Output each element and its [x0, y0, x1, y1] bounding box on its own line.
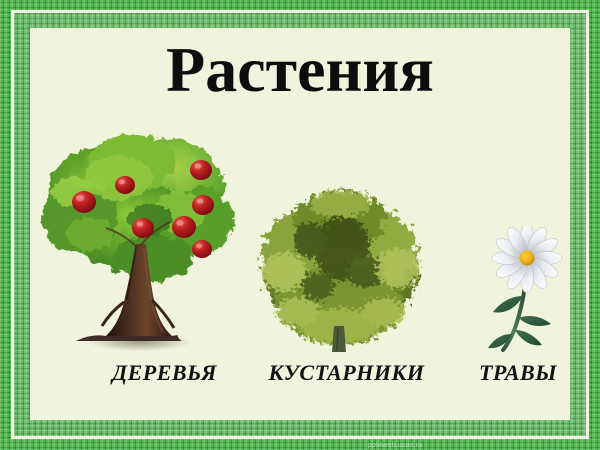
apple	[190, 160, 212, 180]
slide-content-plate: Растения	[30, 28, 570, 420]
page-title: Растения	[30, 38, 570, 102]
daisy-flower-illustration	[485, 226, 570, 356]
caption-trees: ДЕРЕВЬЯ	[72, 360, 257, 386]
apple	[132, 218, 154, 238]
apple	[72, 191, 96, 213]
slide-canvas: Растения	[0, 0, 600, 450]
flower-leaves	[488, 296, 551, 348]
apple-tree-illustration	[32, 116, 247, 356]
caption-herbs: ТРАВЫ	[448, 360, 588, 386]
caption-row: ДЕРЕВЬЯ КУСТАРНИКИ ТРАВЫ	[30, 356, 570, 390]
apple	[172, 216, 196, 238]
illustration-row	[30, 116, 570, 356]
caption-shrubs: КУСТАРНИКИ	[234, 360, 459, 386]
flower-petals	[492, 226, 562, 293]
apple	[192, 240, 212, 258]
shrub-stem	[332, 326, 346, 352]
leafy-shrub-illustration	[248, 176, 433, 356]
flower-center	[520, 251, 535, 266]
apple	[192, 195, 214, 215]
apple	[115, 176, 135, 194]
